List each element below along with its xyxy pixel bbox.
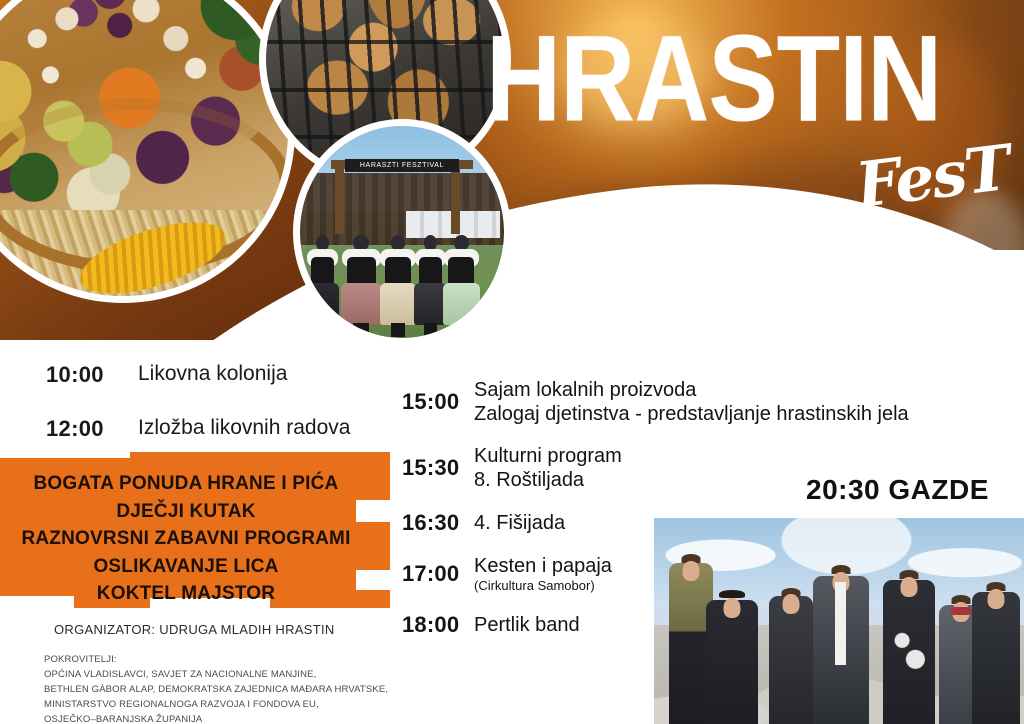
highlights-text: BOGATA PONUDA HRANE I PIĆA DJEČJI KUTAK … xyxy=(0,470,372,608)
schedule-title: Sajam lokalnih proizvoda xyxy=(474,378,909,402)
sponsor-line: OSJEČKO–BARANJSKA ŽUPANIJA xyxy=(44,712,388,724)
sponsor-line: MINISTARSTVO REGIONALNOGA RAZVOJA I FOND… xyxy=(44,697,388,712)
highlight-line: DJEČJI KUTAK xyxy=(0,498,372,526)
dancer-legs xyxy=(424,323,437,337)
dancer-legs xyxy=(454,323,469,337)
highlight-line: OSLIKAVANJE LICA xyxy=(0,553,372,581)
band-member-head xyxy=(901,577,918,597)
dancer-legs xyxy=(316,323,329,337)
dancer-vest xyxy=(419,257,442,283)
sponsors-label: POKROVITELJI: xyxy=(44,652,388,667)
band-member xyxy=(972,592,1020,724)
schedule-time: 15:00 xyxy=(402,389,474,415)
dancer-vest xyxy=(347,257,376,283)
sponsor-line: OPĆINA VLADISLAVCI, SAVJET ZA NACIONALNE… xyxy=(44,667,388,682)
harvest-basket-photo xyxy=(0,0,288,296)
schedule-subtitle: Zalogaj djetinstva - predstavljanje hras… xyxy=(474,402,909,426)
dancer-figure xyxy=(341,283,382,325)
schedule-item: 10:00 Likovna kolonija xyxy=(46,362,406,388)
band-member-head xyxy=(682,561,699,581)
schedule-time: 18:00 xyxy=(402,612,474,638)
schedule-time: 10:00 xyxy=(46,362,138,388)
band-member-shirt xyxy=(835,582,846,665)
dancer-figure xyxy=(443,283,480,325)
schedule-body: Kulturni program 8. Roštiljada xyxy=(474,444,622,492)
band-member xyxy=(813,576,869,724)
title-script-fest: FesT xyxy=(853,137,1013,217)
headliner-label: 20:30 GAZDE xyxy=(806,474,989,506)
page-title: HRASTIN xyxy=(486,18,941,141)
grill-bar xyxy=(266,40,504,44)
schedule-body: Sajam lokalnih proizvoda Zalogaj djetins… xyxy=(474,378,909,426)
schedule-title: Likovna kolonija xyxy=(138,362,287,387)
festival-poster: HARASZTI FESZTIVAL xyxy=(0,0,1024,724)
schedule-time: 15:30 xyxy=(402,455,474,481)
schedule-title: Kesten i papaja xyxy=(474,554,612,578)
grill-bar xyxy=(266,88,504,92)
schedule-time: 16:30 xyxy=(402,510,474,536)
schedule-title: Pertlik band xyxy=(474,613,580,637)
dancer-skirt xyxy=(306,283,339,325)
band-member-head xyxy=(782,594,799,614)
highlight-line: BOGATA PONUDA HRANE I PIĆA xyxy=(0,470,372,498)
organizer-line: ORGANIZATOR: UDRUGA MLADIH HRASTIN xyxy=(54,622,335,637)
band-member-body xyxy=(769,596,813,724)
dancer-skirt xyxy=(443,283,480,325)
gazde-band-photo xyxy=(654,518,1024,724)
band-member xyxy=(706,600,758,724)
dancer-vest xyxy=(448,257,474,283)
schedule-title: Izložba likovnih radova xyxy=(138,416,350,441)
band-member-pattern xyxy=(891,606,928,693)
dancer-skirt xyxy=(341,283,382,325)
schedule-title: Kulturni program xyxy=(474,444,622,468)
schedule-note: (Cirkultura Samobor) xyxy=(474,578,612,594)
band-member-body xyxy=(706,600,758,724)
dancer-skirt xyxy=(380,283,417,325)
schedule-time: 12:00 xyxy=(46,416,138,442)
band-member-head xyxy=(723,598,740,618)
schedule-body: Kesten i papaja (Cirkultura Samobor) xyxy=(474,554,612,594)
band-member-body xyxy=(972,592,1020,724)
band-member-hat xyxy=(719,590,745,598)
dancer-figure xyxy=(306,283,339,325)
schedule-body: Pertlik band xyxy=(474,613,580,637)
dancer-vest xyxy=(385,257,411,283)
banner-brush-notch xyxy=(0,446,130,458)
sponsor-line: BETHLEN GÁBOR ALAP, DEMOKRATSKA ZAJEDNIC… xyxy=(44,682,388,697)
event-date: 20. RUJAN 2025. xyxy=(578,258,971,312)
highlight-line: KOKTEL MAJSTOR xyxy=(0,580,372,608)
band-member xyxy=(883,580,935,724)
band-member-head xyxy=(988,589,1005,609)
schedule-body: 4. Fišijada xyxy=(474,511,565,535)
dancer-figure xyxy=(380,283,417,325)
dancer-vest xyxy=(311,257,334,283)
gate-post-left xyxy=(335,162,344,234)
highlight-line: RAZNOVRSNI ZABAVNI PROGRAMI xyxy=(0,525,372,553)
sponsors-block: POKROVITELJI: OPĆINA VLADISLAVCI, SAVJET… xyxy=(44,652,388,724)
schedule-time: 17:00 xyxy=(402,561,474,587)
folk-dancers-photo: HARASZTI FESZTIVAL xyxy=(300,126,504,338)
schedule-item: 12:00 Izložba likovnih radova xyxy=(46,416,406,442)
dancer-legs xyxy=(353,323,369,337)
schedule-title: 4. Fišijada xyxy=(474,511,565,535)
band-member xyxy=(769,596,813,724)
schedule-item: 15:00 Sajam lokalnih proizvoda Zalogaj d… xyxy=(402,378,1002,426)
band-member-scarf xyxy=(951,607,971,615)
gate-sign-text: HARASZTI FESZTIVAL xyxy=(345,159,459,172)
gate-post-right xyxy=(451,162,460,234)
dancer-legs xyxy=(391,323,406,337)
schedule-subtitle: 8. Roštiljada xyxy=(474,468,622,492)
